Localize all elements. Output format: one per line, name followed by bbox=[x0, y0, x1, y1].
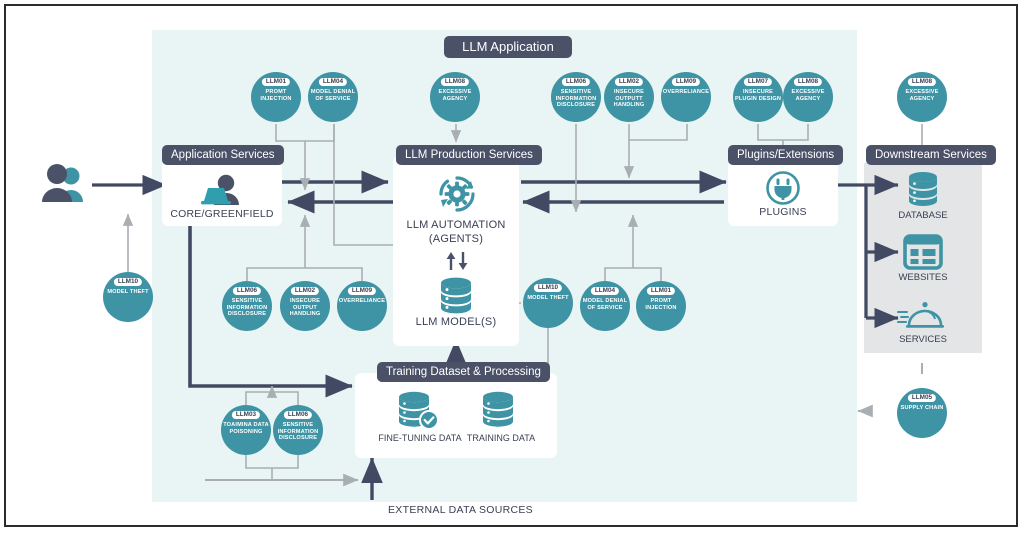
risk-node-llm08-n3[interactable]: LLM08EXCESSIVE AGENCY bbox=[430, 72, 480, 122]
risk-node-llm02-n12[interactable]: LLM02INSECURE OUTPUT HANDLING bbox=[280, 281, 330, 331]
database-icon bbox=[438, 275, 478, 315]
training-dataset-panel[interactable]: FINE-TUNING DATA TRAINING DATA bbox=[355, 373, 557, 458]
risk-node-code: LLM04 bbox=[591, 287, 619, 295]
user-laptop-icon bbox=[184, 174, 260, 206]
risk-node-code: LLM08 bbox=[441, 78, 469, 86]
risk-node-llm06-n18[interactable]: LLM06SENSITIVE INFORMATION DISCLOSURE bbox=[273, 405, 323, 455]
application-services-panel[interactable]: CORE/GREENFIELD bbox=[162, 156, 282, 226]
risk-node-code: LLM01 bbox=[262, 78, 290, 86]
risk-node-code: LLM09 bbox=[348, 287, 376, 295]
risk-node-code: LLM06 bbox=[284, 411, 312, 419]
risk-node-title: INSECURE OUTPUTT HANDLING bbox=[605, 89, 653, 109]
training-dataset-header: Training Dataset & Processing bbox=[377, 362, 550, 382]
risk-node-title: EXCESSIVE AGENCY bbox=[431, 89, 479, 102]
risk-node-title: OVERRELIANCE bbox=[662, 89, 710, 96]
risk-node-llm01-n1[interactable]: LLM01PROMT INJECTION bbox=[251, 72, 301, 122]
application-services-header: Application Services bbox=[162, 145, 284, 165]
risk-node-code: LLM06 bbox=[233, 287, 261, 295]
serving-dome-icon bbox=[896, 298, 948, 332]
risk-node-llm01-n16[interactable]: LLM01PROMT INJECTION bbox=[636, 281, 686, 331]
llm-production-services-panel[interactable]: LLM AUTOMATION (AGENTS) bbox=[393, 156, 519, 346]
risk-node-llm07-n7[interactable]: LLM07INSECURE PLUGIN DESIGN bbox=[733, 72, 783, 122]
risk-node-title: PROMT INJECTION bbox=[252, 89, 300, 102]
training-item-label-training: TRAINING DATA bbox=[451, 433, 551, 443]
risk-node-title: MODEL THEFT bbox=[524, 295, 572, 302]
risk-node-code: LLM03 bbox=[232, 411, 260, 419]
plug-circle-icon bbox=[765, 170, 801, 206]
risk-node-llm08-n9[interactable]: LLM08EXCESSIVE AGENCY bbox=[897, 72, 947, 122]
risk-node-title: SENSITIVE INFORMATION DISCLOSURE bbox=[223, 298, 271, 318]
external-data-sources-label: EXTERNAL DATA SOURCES bbox=[388, 504, 533, 516]
risk-node-code: LLM10 bbox=[534, 284, 562, 292]
downstream-item-label-services: SERVICES bbox=[875, 334, 971, 345]
browser-layout-icon bbox=[903, 234, 943, 270]
updown-arrows-icon bbox=[443, 251, 471, 271]
risk-node-code: LLM02 bbox=[615, 78, 643, 86]
llm-automation-sublabel: (AGENTS) bbox=[393, 233, 519, 245]
risk-node-code: LLM08 bbox=[908, 78, 936, 86]
downstream-item-label-websites: WEBSITES bbox=[875, 272, 971, 283]
risk-node-title: INSECURE PLUGIN DESIGN bbox=[734, 89, 782, 102]
risk-node-llm06-n4[interactable]: LLM06SENSITIVE INFORMATION DISCLOSURE bbox=[551, 72, 601, 122]
risk-node-title: PROMT INJECTION bbox=[637, 298, 685, 311]
risk-node-code: LLM06 bbox=[562, 78, 590, 86]
downstream-item-label-database: DATABASE bbox=[875, 210, 971, 221]
risk-node-code: LLM08 bbox=[794, 78, 822, 86]
risk-node-title: SUPPLY CHAIN bbox=[898, 405, 946, 412]
downstream-services-header: Downstream Services bbox=[866, 145, 996, 165]
diagram-canvas: LLM Application CORE/GREENFIELD Applicat… bbox=[0, 0, 1024, 533]
risk-node-llm04-n15[interactable]: LLM04MODEL DENIAL OF SERVICE bbox=[580, 281, 630, 331]
risk-node-llm04-n2[interactable]: LLM04MODEL DENIAL OF SERVICE bbox=[308, 72, 358, 122]
database-icon bbox=[477, 390, 521, 432]
risk-node-code: LLM05 bbox=[908, 394, 936, 402]
database-check-icon bbox=[393, 390, 441, 432]
risk-node-llm09-n6[interactable]: LLM09OVERRELIANCE bbox=[661, 72, 711, 122]
risk-node-code: LLM01 bbox=[647, 287, 675, 295]
llm-production-services-header: LLM Production Services bbox=[396, 145, 542, 165]
plugins-extensions-panel[interactable]: PLUGINS bbox=[728, 156, 838, 226]
risk-node-code: LLM10 bbox=[114, 278, 142, 286]
users-icon bbox=[40, 162, 92, 204]
risk-node-code: LLM09 bbox=[672, 78, 700, 86]
risk-node-llm05-n19[interactable]: LLM05SUPPLY CHAIN bbox=[897, 388, 947, 438]
risk-node-llm06-n11[interactable]: LLM06SENSITIVE INFORMATION DISCLOSURE bbox=[222, 281, 272, 331]
risk-node-code: LLM04 bbox=[319, 78, 347, 86]
risk-node-llm10-n14[interactable]: LLM10MODEL THEFT bbox=[523, 278, 573, 328]
llm-automation-label: LLM AUTOMATION bbox=[393, 219, 519, 231]
risk-node-llm02-n5[interactable]: LLM02INSECURE OUTPUTT HANDLING bbox=[604, 72, 654, 122]
risk-node-title: OVERRELIANCE bbox=[338, 298, 386, 305]
risk-node-code: LLM07 bbox=[744, 78, 772, 86]
risk-node-title: SENSITIVE INFORMATION DISCLOSURE bbox=[552, 89, 600, 109]
diagram-title: LLM Application bbox=[444, 36, 572, 58]
plugins-label: PLUGINS bbox=[728, 206, 838, 218]
risk-node-title: EXCESSIVE AGENCY bbox=[784, 89, 832, 102]
risk-node-llm08-n8[interactable]: LLM08EXCESSIVE AGENCY bbox=[783, 72, 833, 122]
risk-node-llm09-n13[interactable]: LLM09OVERRELIANCE bbox=[337, 281, 387, 331]
database-icon bbox=[900, 170, 946, 208]
risk-node-title: MODEL DENIAL OF SERVICE bbox=[581, 298, 629, 311]
gear-refresh-icon bbox=[437, 174, 477, 214]
risk-node-title: MODEL DENIAL OF SERVICE bbox=[309, 89, 357, 102]
plugins-extensions-header: Plugins/Extensions bbox=[728, 145, 843, 165]
risk-node-code: LLM02 bbox=[291, 287, 319, 295]
core-greenfield-label: CORE/GREENFIELD bbox=[162, 208, 282, 220]
risk-node-title: EXCESSIVE AGENCY bbox=[898, 89, 946, 102]
risk-node-llm03-n17[interactable]: LLM03TOAIMINA DATA POISONING bbox=[221, 405, 271, 455]
risk-node-title: INSECURE OUTPUT HANDLING bbox=[281, 298, 329, 318]
risk-node-llm10-n10[interactable]: LLM10MODEL THEFT bbox=[103, 272, 153, 322]
llm-models-label: LLM MODEL(S) bbox=[393, 316, 519, 328]
risk-node-title: SENSITIVE INFORMATION DISCLOSURE bbox=[274, 422, 322, 442]
risk-node-title: MODEL THEFT bbox=[104, 289, 152, 296]
risk-node-title: TOAIMINA DATA POISONING bbox=[222, 422, 270, 435]
